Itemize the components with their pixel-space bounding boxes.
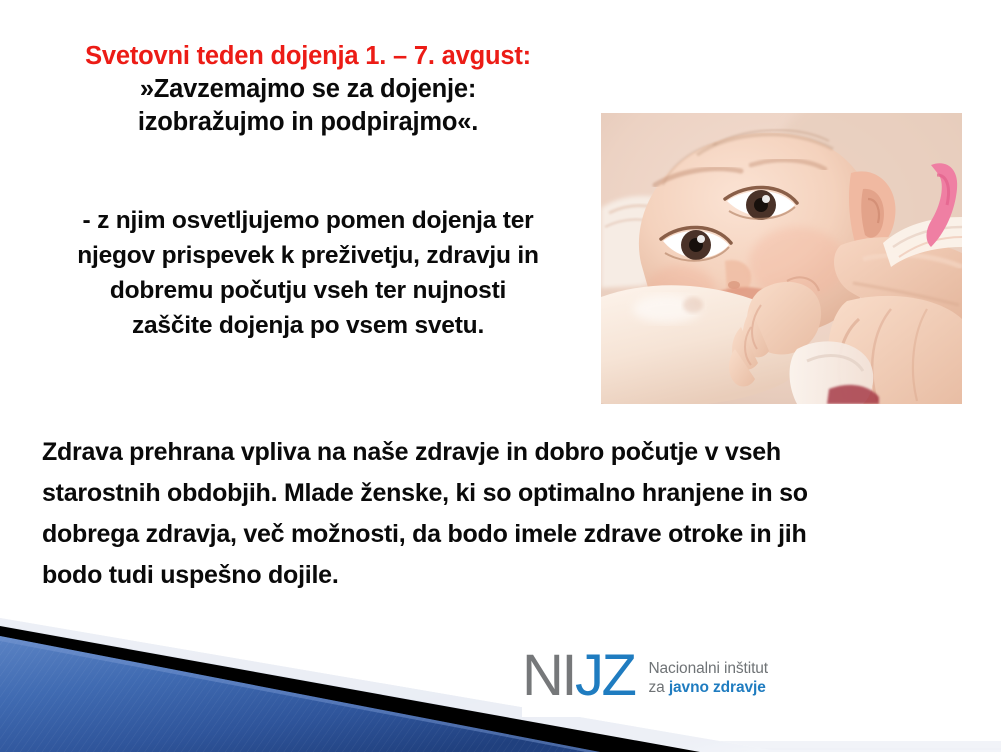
nijz-logo-tagline: Nacionalni inštitut za javno zdravje bbox=[648, 660, 768, 698]
description-block: - z njim osvetljujemo pomen dojenja ter … bbox=[18, 203, 598, 343]
body-line-4: bodo tudi uspešno dojile. bbox=[42, 555, 972, 596]
body-line-2: starostnih obdobjih. Mlade ženske, ki so… bbox=[42, 473, 972, 514]
title-line-slogan-2: izobražujmo in podpirajmo«. bbox=[18, 106, 598, 139]
bottom-diagonal-decoration bbox=[0, 592, 1001, 752]
breastfeeding-baby-photo bbox=[601, 113, 962, 404]
description-line-2: njegov prispevek k preživetju, zdravju i… bbox=[18, 238, 598, 273]
nijz-logo: NIJZ Nacionalni inštitut za javno zdravj… bbox=[522, 639, 812, 717]
slide-canvas: Svetovni teden dojenja 1. – 7. avgust: »… bbox=[0, 0, 1001, 752]
description-line-1: - z njim osvetljujemo pomen dojenja ter bbox=[18, 203, 598, 238]
logo-tagline-line-2: za javno zdravje bbox=[648, 679, 768, 698]
logo-mark-jz: JZ bbox=[575, 643, 634, 708]
body-line-1: Zdrava prehrana vpliva na naše zdravje i… bbox=[42, 432, 972, 473]
title-line-slogan-1: »Zavzemajmo se za dojenje: bbox=[18, 73, 598, 106]
title-line-campaign-dates: Svetovni teden dojenja 1. – 7. avgust: bbox=[18, 40, 598, 73]
body-paragraph: Zdrava prehrana vpliva na naše zdravje i… bbox=[42, 432, 972, 596]
description-line-3: dobremu počutju vseh ter nujnosti bbox=[18, 273, 598, 308]
logo-mark-ni: NI bbox=[522, 643, 575, 708]
title-block: Svetovni teden dojenja 1. – 7. avgust: »… bbox=[18, 40, 598, 139]
nijz-logo-mark: NIJZ bbox=[522, 647, 634, 705]
logo-tagline-line-1: Nacionalni inštitut bbox=[648, 660, 768, 679]
logo-tagline-highlight: javno zdravje bbox=[669, 679, 766, 696]
body-line-3: dobrega zdravja, več možnosti, da bodo i… bbox=[42, 514, 972, 555]
description-line-4: zaščite dojenja po vsem svetu. bbox=[18, 308, 598, 343]
logo-tagline-za: za bbox=[648, 679, 668, 696]
